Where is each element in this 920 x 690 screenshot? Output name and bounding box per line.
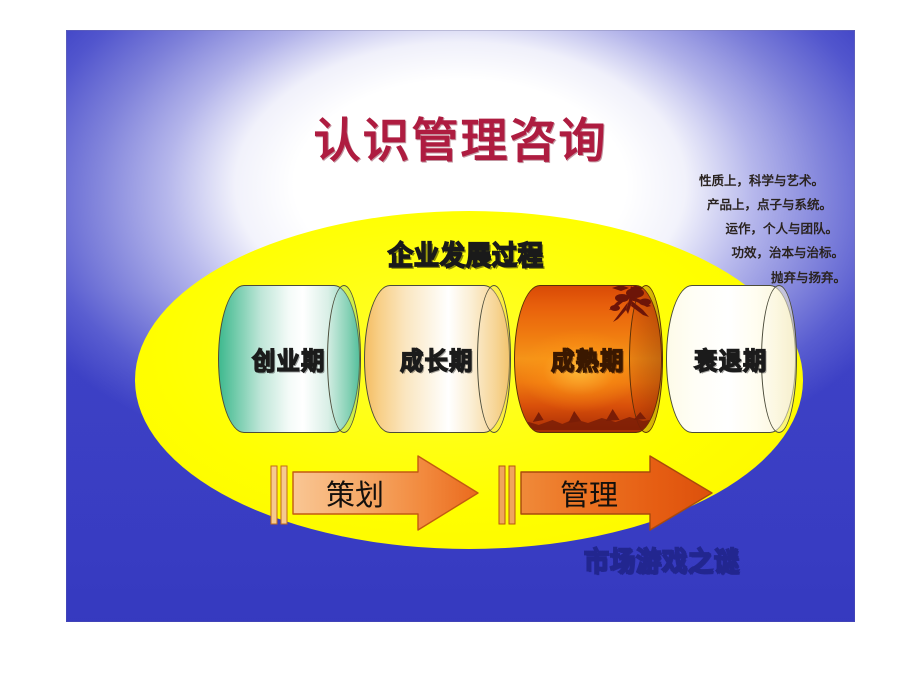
- page-title: 认识管理咨询: [66, 102, 855, 171]
- side-note-line: 功效，治本与治标。: [546, 247, 846, 260]
- arrow-label: 管理: [560, 472, 618, 514]
- process-arrow-2: 管理: [498, 454, 714, 532]
- stage-label: 成熟期: [514, 341, 662, 377]
- arrow-shape: [292, 454, 480, 532]
- arrow-tail-bars-icon: [498, 460, 518, 538]
- ground-silhouette-icon: [515, 400, 661, 430]
- side-note-line: 运作，个人与团队。: [546, 223, 846, 236]
- arrow-label: 策划: [326, 472, 384, 514]
- process-arrow-1: 策划: [270, 454, 480, 532]
- stage-label: 创业期: [218, 341, 360, 377]
- stage-cylinder-3: 成熟期: [514, 285, 662, 433]
- arrow-tail-bars-icon: [270, 460, 290, 538]
- stage-label: 衰退期: [666, 341, 796, 377]
- slide-page: 认识管理咨询 性质上，科学与艺术。 产品上，点子与系统。 运作，个人与团队。 功…: [0, 0, 920, 690]
- side-notes-block: 性质上，科学与艺术。 产品上，点子与系统。 运作，个人与团队。 功效，治本与治标…: [546, 175, 846, 296]
- stage-cylinder-2: 成长期: [364, 285, 510, 433]
- stage-cylinder-1: 创业期: [218, 285, 360, 433]
- process-heading-wordart: 企业发展过程: [388, 235, 544, 274]
- presentation-slide: 认识管理咨询 性质上，科学与艺术。 产品上，点子与系统。 运作，个人与团队。 功…: [66, 30, 855, 622]
- stage-cylinder-4: 衰退期: [666, 285, 796, 433]
- side-note-line: 产品上，点子与系统。: [546, 199, 846, 212]
- stage-label: 成长期: [364, 341, 510, 377]
- bottom-caption-wordart: 市场游戏之谜: [584, 541, 740, 580]
- side-note-line: 抛弃与扬弃。: [546, 272, 846, 285]
- side-note-line: 性质上，科学与艺术。: [546, 175, 846, 188]
